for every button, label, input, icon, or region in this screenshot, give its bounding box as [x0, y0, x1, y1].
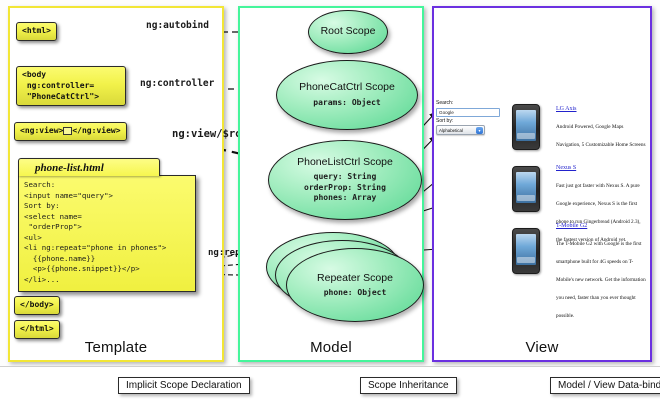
ngview-placeholder-box [63, 127, 72, 135]
list-item: T-Mobile G2 The T-Mobile G2 with Google … [556, 223, 648, 322]
phone-name-link[interactable]: LG Axis [556, 106, 648, 112]
phone-name-link[interactable]: Nexus S [556, 165, 648, 171]
label-ng-autobind: ng:autobind [146, 20, 209, 31]
body-open-tag: <body ng:controller= "PhoneCatCtrl"> [16, 66, 126, 106]
phone-thumbnail-3 [512, 228, 540, 274]
legend-item-data-binding: Model / View Data-binding [470, 377, 660, 394]
scope-repeater-title: Repeater Scope [317, 273, 393, 285]
phone-screen [516, 110, 536, 141]
legend-item-implicit-scope: Implicit Scope Declaration [16, 377, 250, 394]
scope-phonelistctrl: PhoneListCtrl Scope query: String orderP… [268, 140, 422, 220]
sort-label: Sort by: [436, 118, 500, 126]
scope-repeater-props: phone: Object [324, 288, 387, 297]
ngview-close-text: </ng:view> [72, 126, 120, 135]
scope-phonecatctrl-title: PhoneCatCtrl Scope [299, 82, 395, 94]
phone-screen [516, 234, 536, 265]
phone-thumbnail-2 [512, 166, 540, 212]
phone-thumbnail-1 [512, 104, 540, 150]
legend: Implicit Scope Declaration Scope Inherit… [0, 366, 660, 405]
phone-screen [516, 172, 536, 203]
repeater-scope-front: Repeater Scope phone: Object [286, 248, 424, 322]
phone-snippet: The T-Mobile G2 with Google is the first… [556, 241, 646, 319]
list-item: LG Axis Android Powered, Google Maps Nav… [556, 106, 648, 151]
ngview-tag: <ng:view></ng:view> [14, 122, 127, 141]
view-panel-label: View [434, 339, 650, 356]
legend-item-scope-inheritance: Scope Inheritance [268, 377, 457, 394]
callout-title: phone-list.html [18, 158, 160, 176]
scope-root-title: Root Scope [321, 26, 376, 38]
scope-phonelistctrl-props: query: String orderProp: String phones: … [304, 172, 386, 203]
phone-name-link[interactable]: T-Mobile G2 [556, 223, 648, 229]
legend-label-implicit-scope: Implicit Scope Declaration [118, 377, 250, 394]
scope-phonecatctrl: PhoneCatCtrl Scope params: Object [276, 60, 418, 130]
diagram-canvas: Template <html> <body ng:controller= "Ph… [0, 0, 660, 405]
model-panel-label: Model [240, 339, 422, 356]
phone-list-callout: phone-list.html Search: <input name="que… [18, 158, 196, 293]
html-open-tag: <html> [16, 22, 57, 41]
body-close-tag: </body> [14, 296, 60, 315]
html-close-tag: </html> [14, 320, 60, 339]
legend-label-data-binding: Model / View Data-binding [550, 377, 660, 394]
chevron-down-icon: ▾ [476, 127, 483, 134]
legend-label-scope-inheritance: Scope Inheritance [360, 377, 457, 394]
label-ng-controller: ng:controller [140, 78, 214, 89]
scope-root: Root Scope [308, 10, 388, 54]
scope-phonelistctrl-title: PhoneListCtrl Scope [297, 157, 393, 169]
ngview-open-text: <ng:view> [20, 126, 63, 135]
view-search-form: Search: Google Sort by: Alphabetical ▾ [436, 100, 500, 135]
scope-repeater-stack: Repeater Scope phone: Object [266, 232, 426, 324]
callout-code: Search: <input name="query"> Sort by: <s… [18, 175, 196, 292]
sort-select-value: Alphabetical [439, 128, 476, 133]
search-input[interactable]: Google [436, 108, 500, 117]
phone-snippet: Android Powered, Google Maps Navigation,… [556, 124, 645, 148]
template-panel-label: Template [10, 339, 222, 356]
sort-select[interactable]: Alphabetical ▾ [436, 125, 485, 135]
search-label: Search: [436, 100, 500, 108]
scope-phonecatctrl-props: params: Object [313, 98, 380, 108]
